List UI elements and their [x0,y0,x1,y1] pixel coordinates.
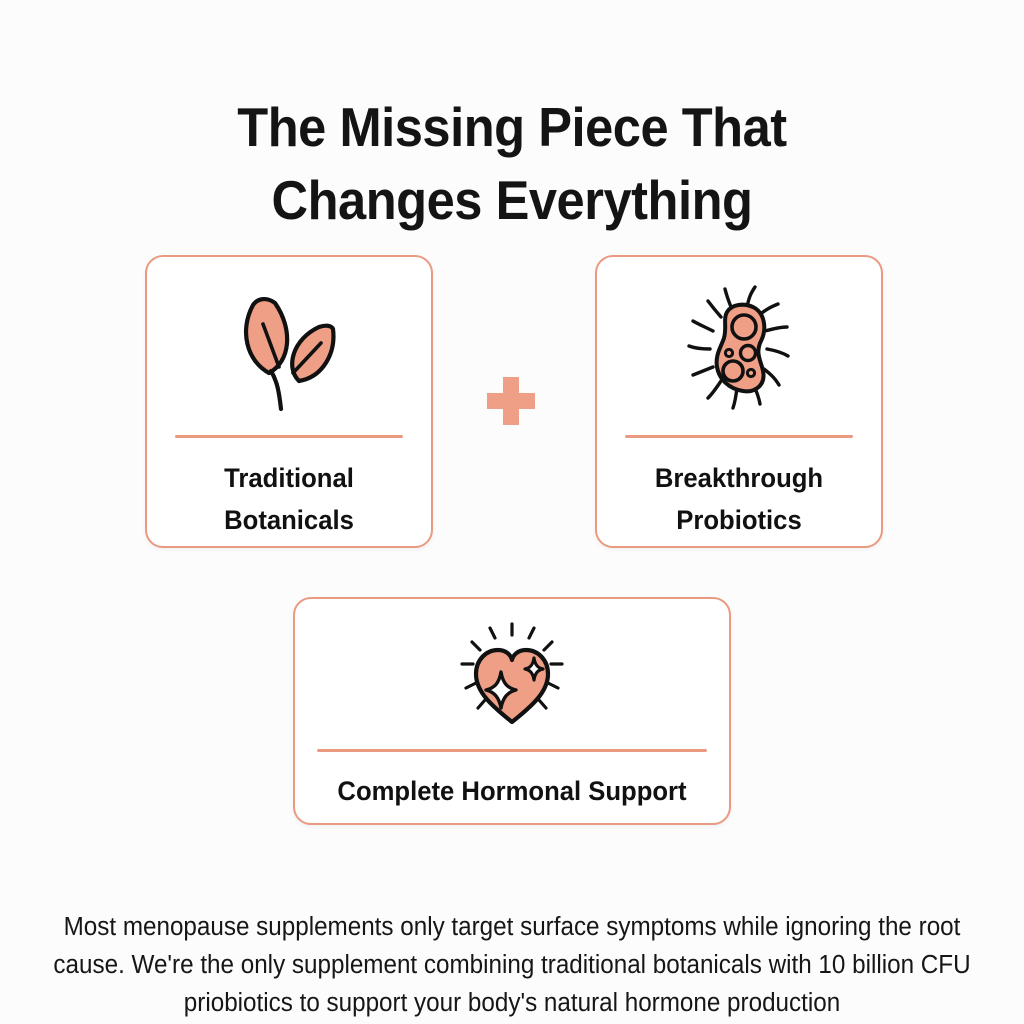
plus-icon-vertical-bar [503,377,519,425]
card-icon-wrapper [597,275,881,430]
page-title: The Missing Piece That Changes Everythin… [41,91,983,237]
card-label-traditional-botanicals: Traditional Botanicals [164,457,415,541]
card-label-line-1: Breakthrough [655,463,823,493]
card-label-line-2: Botanicals [224,505,354,535]
card-label-breakthrough-probiotics: Breakthrough Probiotics [614,457,865,541]
leaves-icon [223,287,355,419]
page-title-line-1: The Missing Piece That [41,91,983,164]
card-label-line-2: Probiotics [676,505,801,535]
card-complete-hormonal-support[interactable]: Complete Hormonal Support [293,597,731,825]
card-icon-wrapper [147,275,431,430]
card-breakthrough-probiotics[interactable]: Breakthrough Probiotics [595,255,883,548]
card-divider [175,435,403,438]
infographic-page: The Missing Piece That Changes Everythin… [0,0,1024,1024]
sparkling-heart-icon [450,616,574,732]
bacteria-icon [669,283,809,423]
card-label-line-1: Traditional [224,463,354,493]
card-traditional-botanicals[interactable]: Traditional Botanicals [145,255,433,548]
plus-icon [487,377,535,425]
card-divider [625,435,853,438]
page-title-line-2: Changes Everything [41,164,983,237]
description-paragraph: Most menopause supplements only target s… [39,908,985,1022]
card-divider [317,749,707,752]
card-label-complete-hormonal-support: Complete Hormonal Support [315,773,708,809]
card-icon-wrapper [295,613,729,735]
